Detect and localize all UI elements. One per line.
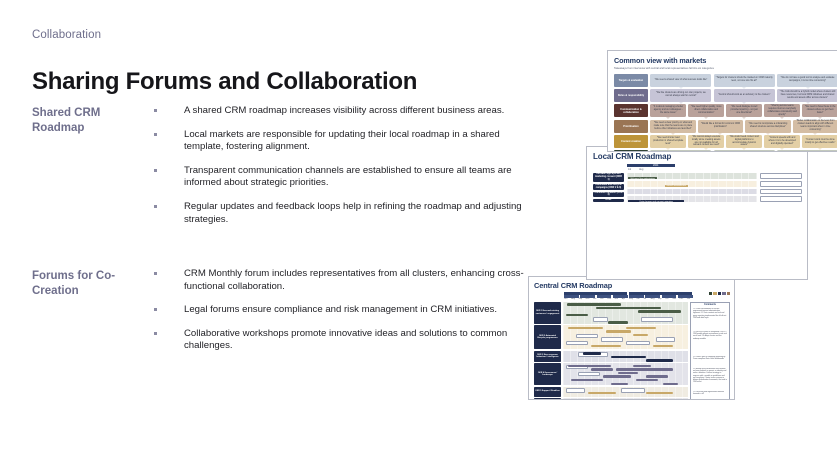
section-heading: Forums for Co-Creation (32, 268, 154, 353)
list-item: CRM Monthly forum includes representativ… (154, 268, 527, 293)
bullet-text: Regular updates and feedback loops help … (184, 201, 527, 226)
common-view-quote-card: "We would need content and digital platf… (726, 135, 762, 148)
central-gantt-band (563, 363, 688, 385)
common-view-row: Communication & collaboration"It is abou… (614, 104, 837, 117)
central-month-label: Apr (622, 298, 625, 300)
central-gantt-band (563, 398, 688, 400)
local-notes-column (760, 173, 802, 202)
local-note-box (760, 181, 802, 187)
central-gantt-task (568, 400, 581, 401)
common-view-row-label: Roles & responsibility (614, 89, 648, 102)
thumbnail-common-view-with-markets[interactable]: Common view with markets Takeaways from … (607, 50, 837, 152)
central-month-label: Jan (600, 298, 603, 300)
bullet-square-icon (154, 201, 184, 226)
central-row-labels: OKR 1 New and existing customers / engag… (534, 302, 561, 401)
section-shared-crm: Shared CRM Roadmap A shared CRM roadmap … (32, 105, 527, 226)
card-title: Common view with markets (614, 56, 837, 65)
local-row-labels: Increase sign-ups and marketing consent … (593, 173, 624, 202)
bullet-list: A shared CRM roadmap increases visibilit… (154, 105, 527, 226)
central-gantt-bands (563, 302, 688, 401)
local-gantt-band: Basket abandonmentLoyalty tier (627, 181, 757, 187)
central-gantt-task (611, 383, 629, 386)
central-row-label: OKR 1 New and existing customers / engag… (534, 302, 561, 324)
central-gantt-task (653, 345, 673, 348)
bullet-square-icon (154, 304, 184, 317)
central-gantt-task (581, 327, 604, 330)
section-heading: Shared CRM Roadmap (32, 105, 154, 226)
card-title: Central CRM Roadmap (534, 281, 730, 290)
bullet-text: Collaborative workshops promote innovati… (184, 328, 527, 353)
central-gantt-task (646, 359, 674, 361)
card-subtitle: Takeaways from interviews with central a… (614, 67, 837, 70)
common-view-quote-card: "Targets for clusters should be tracked … (714, 74, 775, 87)
central-row-label: Other (534, 398, 561, 400)
central-gantt-task (626, 341, 651, 346)
common-view-quote-card: "The CoE should be a hybrid model where … (777, 89, 837, 102)
legend-swatch (709, 292, 712, 295)
common-view-row: Roles & responsibility"We like clusters … (614, 89, 837, 102)
common-view-row: Prioritisation"We need a clear priority … (614, 120, 837, 133)
common-view-row: Targets & evaluation"We need a shared vi… (614, 74, 837, 87)
central-month-label: Sep (578, 298, 582, 300)
central-gantt-task (646, 375, 669, 378)
central-month-label: Jul (643, 298, 646, 300)
central-gantt-task (638, 310, 676, 313)
local-gantt-task: Welcome flow optimisation (628, 177, 657, 179)
central-gantt-band (563, 351, 688, 362)
local-row-label: Consumer behavior (OKR 4) (593, 192, 624, 198)
local-year-label: 2024 (653, 164, 658, 167)
central-gantt-task (633, 365, 651, 368)
central-row-label: OKR 2 Automated lifecycle programmes (534, 325, 561, 349)
common-view-row-label: Content creation (614, 135, 648, 148)
central-month-label: Mar (615, 298, 619, 300)
common-view-quote-card: "We need to have these in the clusters w… (802, 104, 837, 117)
central-gantt-task (567, 303, 592, 306)
central-row-label: OKR 4 Governance / Landscape (534, 363, 561, 385)
central-row-label: OKR 3 New consumer behaviour / intellige… (534, 351, 561, 362)
central-legend (709, 292, 730, 295)
common-view-quote-card: "Central should work as an advisory to t… (714, 89, 775, 102)
central-gantt-task (568, 365, 611, 368)
central-month-label: Aug (571, 298, 575, 300)
common-view-quote-card: "We need a shared view of what success l… (650, 74, 711, 87)
local-year-bar: 2024 (627, 164, 675, 167)
common-view-row-label: Knowledge sharing (614, 150, 648, 152)
common-view-quote-card: "Better collaboration on the level from … (793, 120, 837, 133)
common-view-quote-card: "Sharing across teams requires trust so … (764, 104, 800, 117)
thumbnail-central-crm-roadmap[interactable]: Central CRM Roadmap JanAugSepNovDecJanFe… (528, 276, 735, 400)
list-item: Regular updates and feedback loops help … (154, 201, 527, 226)
month-label: Jul (628, 168, 631, 171)
common-view-row: Content creation"We need shorter lead pr… (614, 135, 837, 148)
bullet-square-icon (154, 268, 184, 293)
central-gantt-task (633, 334, 648, 337)
local-note-box (760, 189, 802, 195)
common-view-row: Knowledge sharing"A structured knowledge… (614, 150, 837, 152)
local-gantt-band (627, 189, 757, 195)
central-gantt-task (603, 375, 631, 378)
bullet-text: CRM Monthly forum includes representativ… (184, 268, 527, 293)
central-month-label: Dec (593, 298, 597, 300)
central-month-label: Nov (586, 298, 590, 300)
central-gantt-task (618, 372, 638, 375)
comments-header: Comments (693, 304, 728, 306)
central-gantt-task (663, 383, 678, 386)
thumbnail-local-crm-roadmap[interactable]: Local CRM Roadmap 2024 JulAug Increase s… (586, 146, 808, 280)
central-timeline-header: JanAugSepNovDecJanFebMarAprMayJunJulAugS… (564, 292, 730, 301)
bullet-square-icon (154, 129, 184, 154)
bullet-list: CRM Monthly forum includes representativ… (154, 268, 527, 353)
common-view-quote-card: "Would like a format for common CRM prio… (698, 120, 743, 133)
central-gantt-task (596, 307, 634, 310)
bullet-text: Local markets are responsible for updati… (184, 129, 527, 154)
central-comment: 2.1 Roll-out of same in integrated CRM 2… (693, 331, 728, 354)
common-view-quote-card: "We like clusters are driving our own pr… (650, 89, 711, 102)
bullet-square-icon (154, 105, 184, 118)
central-gantt-task (566, 314, 586, 317)
bullet-square-icon (154, 165, 184, 190)
list-item: Transparent communication channels are e… (154, 165, 527, 190)
central-gantt-task (583, 352, 601, 355)
central-month-label: Sep (658, 298, 662, 300)
slide-canvas: Collaboration Sharing Forums and Collabo… (0, 0, 837, 459)
central-gantt-task (591, 345, 621, 348)
local-gantt-band: Data cleanup and consent migration (627, 196, 757, 202)
list-item: Local markets are responsible for updati… (154, 129, 527, 154)
central-gantt-task (591, 368, 614, 371)
local-row-label: Increase sign-ups and marketing consent … (593, 173, 624, 182)
central-gantt-task (566, 400, 586, 401)
month-label: Aug (639, 168, 643, 171)
central-month-label: Jun (636, 298, 639, 300)
common-view-quote-card: "Content speeds with and where it is to … (764, 135, 800, 148)
section-forums-for-co-creation: Forums for Co-Creation CRM Monthly forum… (32, 268, 527, 353)
central-gantt-task (656, 337, 676, 342)
local-gantt-body: Increase sign-ups and marketing consent … (593, 173, 802, 202)
central-month-label: Jan (564, 298, 567, 300)
common-view-quote-card: "We need a clear priority on what and ma… (650, 120, 695, 133)
central-gantt-band (563, 302, 688, 324)
central-month-label: Dec (680, 298, 684, 300)
list-item: Legal forums ensure compliance and risk … (154, 304, 527, 317)
central-month-label: May (629, 298, 633, 300)
common-view-row-label: Targets & evaluation (614, 74, 648, 87)
central-gantt-task (618, 356, 646, 359)
central-comment: 5.1 Local Bug and organisation timeline … (693, 391, 728, 400)
central-gantt-body: OKR 1 New and existing customers / engag… (534, 302, 730, 401)
card-title: Local CRM Roadmap (593, 152, 802, 161)
local-gantt-task: Data cleanup and consent migration (628, 200, 684, 202)
central-gantt-task (608, 330, 628, 333)
list-item: A shared CRM roadmap increases visibilit… (154, 105, 527, 118)
bullet-square-icon (154, 328, 184, 353)
common-view-quote-card: "It is about managing a better agency an… (650, 104, 686, 117)
central-gantt-task (578, 372, 600, 377)
central-comment: 4.1 Identity and prioritisation new netw… (693, 368, 728, 389)
local-gantt-task: Basket abandonment (665, 185, 688, 187)
central-comment: 3.1 Launch plan of campaign planning by … (693, 356, 728, 366)
common-view-grid: Targets & evaluation"We need a shared vi… (614, 74, 837, 153)
central-gantt-task (576, 334, 598, 339)
central-gantt-task (566, 388, 586, 393)
central-gantt-task (621, 388, 646, 393)
common-view-quote-card: "Profile clusters are able to see what c… (777, 150, 837, 152)
page-title: Sharing Forums and Collaboration (32, 68, 417, 96)
bullet-text: A shared CRM roadmap increases visibilit… (184, 105, 527, 118)
local-month-labels: JulAug (628, 168, 643, 171)
breadcrumb: Collaboration (32, 29, 101, 41)
central-gantt-task (588, 392, 616, 395)
common-view-quote-card: "We need shorter lead production in shar… (650, 135, 686, 148)
local-row-label: Automated and lifecycle campaigns (OKR 2… (593, 184, 624, 190)
central-gantt-task (566, 341, 588, 346)
local-note-box (760, 173, 802, 179)
central-gantt-task (616, 368, 661, 371)
central-gantt-band (563, 387, 688, 397)
common-view-quote-card: "We need higher quality, more direct col… (688, 104, 724, 117)
common-view-quote-card: "We need dialogue & well provided sparri… (726, 104, 762, 117)
central-gantt-task (626, 327, 656, 330)
local-gantt-band: Welcome flow optimisation (627, 173, 757, 179)
central-month-label: Oct (665, 298, 668, 300)
bullet-text: Legal forums ensure compliance and risk … (184, 304, 527, 317)
central-month-label: Nov (672, 298, 676, 300)
common-view-quote-card: "A structured knowledge sharing process … (650, 150, 711, 152)
central-gantt-task (593, 317, 608, 322)
legend-swatch (713, 292, 716, 295)
common-view-quote-card: "We cannot always execute locally since … (688, 135, 724, 148)
common-view-quote-card: "We need to incorporate a onboarding sha… (745, 120, 790, 133)
central-comment: 1.1 Cross-consolidation of market progra… (693, 308, 728, 329)
local-row-label: Other (593, 199, 624, 202)
legend-swatch (727, 292, 730, 295)
local-timeline-header: 2024 JulAug (627, 164, 802, 172)
central-gantt-task (641, 317, 673, 322)
local-gantt-bands: Welcome flow optimisationBasket abandonm… (627, 173, 757, 202)
central-gantt-task (646, 392, 674, 395)
common-view-quote-card: "Content work must be done locally to ge… (802, 135, 837, 148)
central-gantt-band (563, 325, 688, 349)
central-row-label: OKR 5 Support / Enablers (534, 387, 561, 397)
central-month-label: Feb (607, 298, 611, 300)
central-month-label: Jan (687, 298, 690, 300)
common-view-row-label: Communication & collaboration (614, 104, 648, 117)
common-view-quote-card: "Transparency and shared prioritisation … (714, 150, 775, 152)
legend-swatch (722, 292, 725, 295)
central-comments-panel: Comments 1.1 Cross-consolidation of mark… (690, 302, 730, 401)
common-view-row-label: Prioritisation (614, 120, 648, 133)
bullet-text: Transparent communication channels are e… (184, 165, 527, 190)
central-month-label: Aug (651, 298, 655, 300)
central-gantt-task (601, 337, 623, 342)
local-note-box (760, 196, 802, 202)
list-item: Collaborative workshops promote innovati… (154, 328, 527, 353)
central-gantt-task (608, 321, 628, 324)
legend-swatch (718, 292, 721, 295)
common-view-quote-card: "We do not have a good tool to analyse a… (777, 74, 837, 87)
